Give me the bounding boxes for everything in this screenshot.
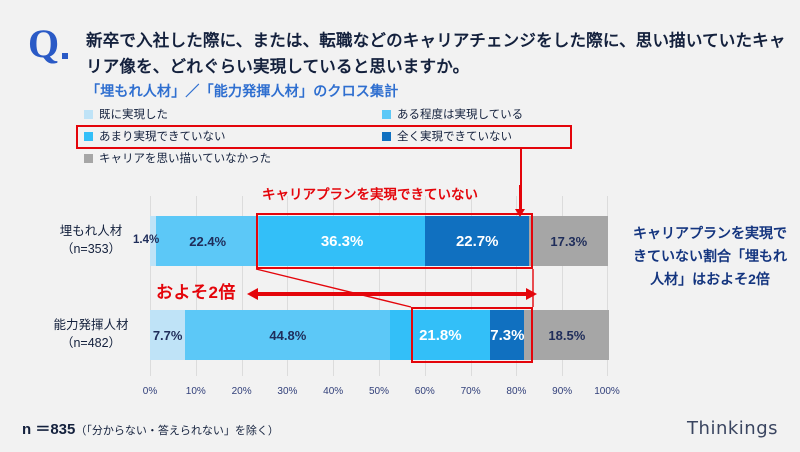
slide-root: Q 新卒で入社した際に、または、転職などのキャリアチェンジをした際に、思い描いて… [0,0,800,452]
brand-logo: Thinkings [687,418,778,439]
footer-sample-size: n ＝835（「分からない・答えられない」を除く） [22,418,279,439]
footer-n-note: （「分からない・答えられない」を除く） [75,425,279,437]
approx-doubling-label: およそ2倍 [156,278,236,303]
right-annotation: キャリアプランを実現できていない割合「埋もれ人材」はおよそ2倍 [628,222,792,291]
double-headed-arrow-icon [247,288,537,300]
footer-n-value: n ＝835 [22,421,75,438]
